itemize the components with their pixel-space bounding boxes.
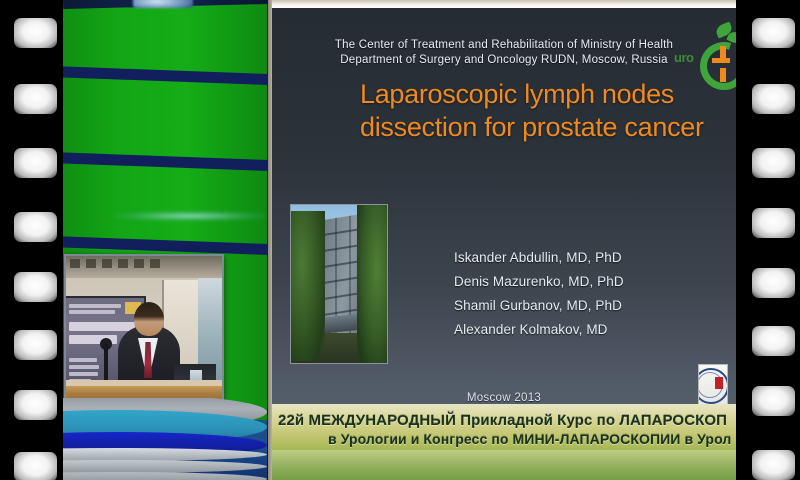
banner-lower-wash: [272, 450, 736, 480]
organization-header: The Center of Treatment and Rehabilitati…: [272, 38, 736, 68]
sprocket-hole: [752, 148, 795, 178]
author-item: Alexander Kolmakov, MD: [454, 318, 724, 342]
studio-desk: [63, 398, 273, 480]
desk-silver-band: [63, 460, 267, 473]
sprocket-hole: [752, 18, 795, 48]
euro-logo-bar: [720, 68, 726, 82]
location-year: Moscow 2013: [272, 392, 736, 404]
sprocket-hole: [14, 84, 57, 114]
sprocket-hole: [752, 450, 795, 480]
author-item: Shamil Gurbanov, MD, PhD: [454, 294, 724, 318]
banner-line-1: 22й МЕЖДУНАРОДНЫЙ Прикладной Курс по ЛАП…: [278, 412, 727, 429]
filmstrip-left: [0, 0, 63, 480]
slide-top-edge: [272, 0, 736, 8]
wall-monitor: [133, 0, 193, 8]
sprocket-hole: [752, 326, 795, 356]
sprocket-hole: [752, 208, 795, 238]
banner-line-2: в Урологии и Конгресс по МИНИ-ЛАПАРОСКОП…: [328, 431, 731, 447]
slide-title: Laparoscopic lymph nodes dissection for …: [360, 78, 720, 144]
presenter-video-thumbnail[interactable]: [64, 254, 224, 410]
sprocket-hole: [14, 452, 57, 480]
sprocket-hole: [14, 212, 57, 242]
sprocket-hole: [14, 18, 57, 48]
euro-logo-text: uro: [674, 50, 693, 65]
sprocket-hole: [14, 330, 57, 360]
congress-banner: 22й МЕЖДУНАРОДНЫЙ Прикладной Курс по ЛАП…: [272, 404, 736, 480]
desk-silver-band: [63, 448, 267, 461]
photo-tree-right: [357, 205, 388, 364]
wall-stripe: [63, 236, 291, 256]
author-list: Iskander Abdullin, MD, PhD Denis Mazuren…: [454, 246, 724, 342]
photo-tree-left: [290, 211, 325, 361]
sprocket-hole: [752, 386, 795, 416]
room-ceiling: [66, 256, 222, 278]
video-frame: The Center of Treatment and Rehabilitati…: [0, 0, 800, 480]
euro-logo-bar: [712, 58, 730, 63]
filmstrip-right: [736, 0, 800, 480]
seal-red-mark: [715, 377, 723, 389]
organization-line-2: Department of Surgery and Oncology RUDN,…: [272, 53, 736, 68]
speaker-head: [134, 302, 164, 336]
wall-stripe: [63, 152, 291, 172]
author-item: Denis Mazurenko, MD, PhD: [454, 270, 724, 294]
wall-light-glow: [113, 212, 267, 220]
desk-silver-band: [63, 472, 267, 480]
congress-seal-icon: [698, 364, 728, 406]
wall-stripe: [63, 66, 291, 86]
organization-line-1: The Center of Treatment and Rehabilitati…: [272, 38, 736, 53]
hospital-building-photo: [290, 204, 388, 364]
sprocket-hole: [14, 148, 57, 178]
sprocket-hole: [752, 268, 795, 298]
sprocket-hole: [14, 272, 57, 302]
sprocket-hole: [752, 84, 795, 114]
sprocket-hole: [14, 390, 57, 420]
author-item: Iskander Abdullin, MD, PhD: [454, 246, 724, 270]
